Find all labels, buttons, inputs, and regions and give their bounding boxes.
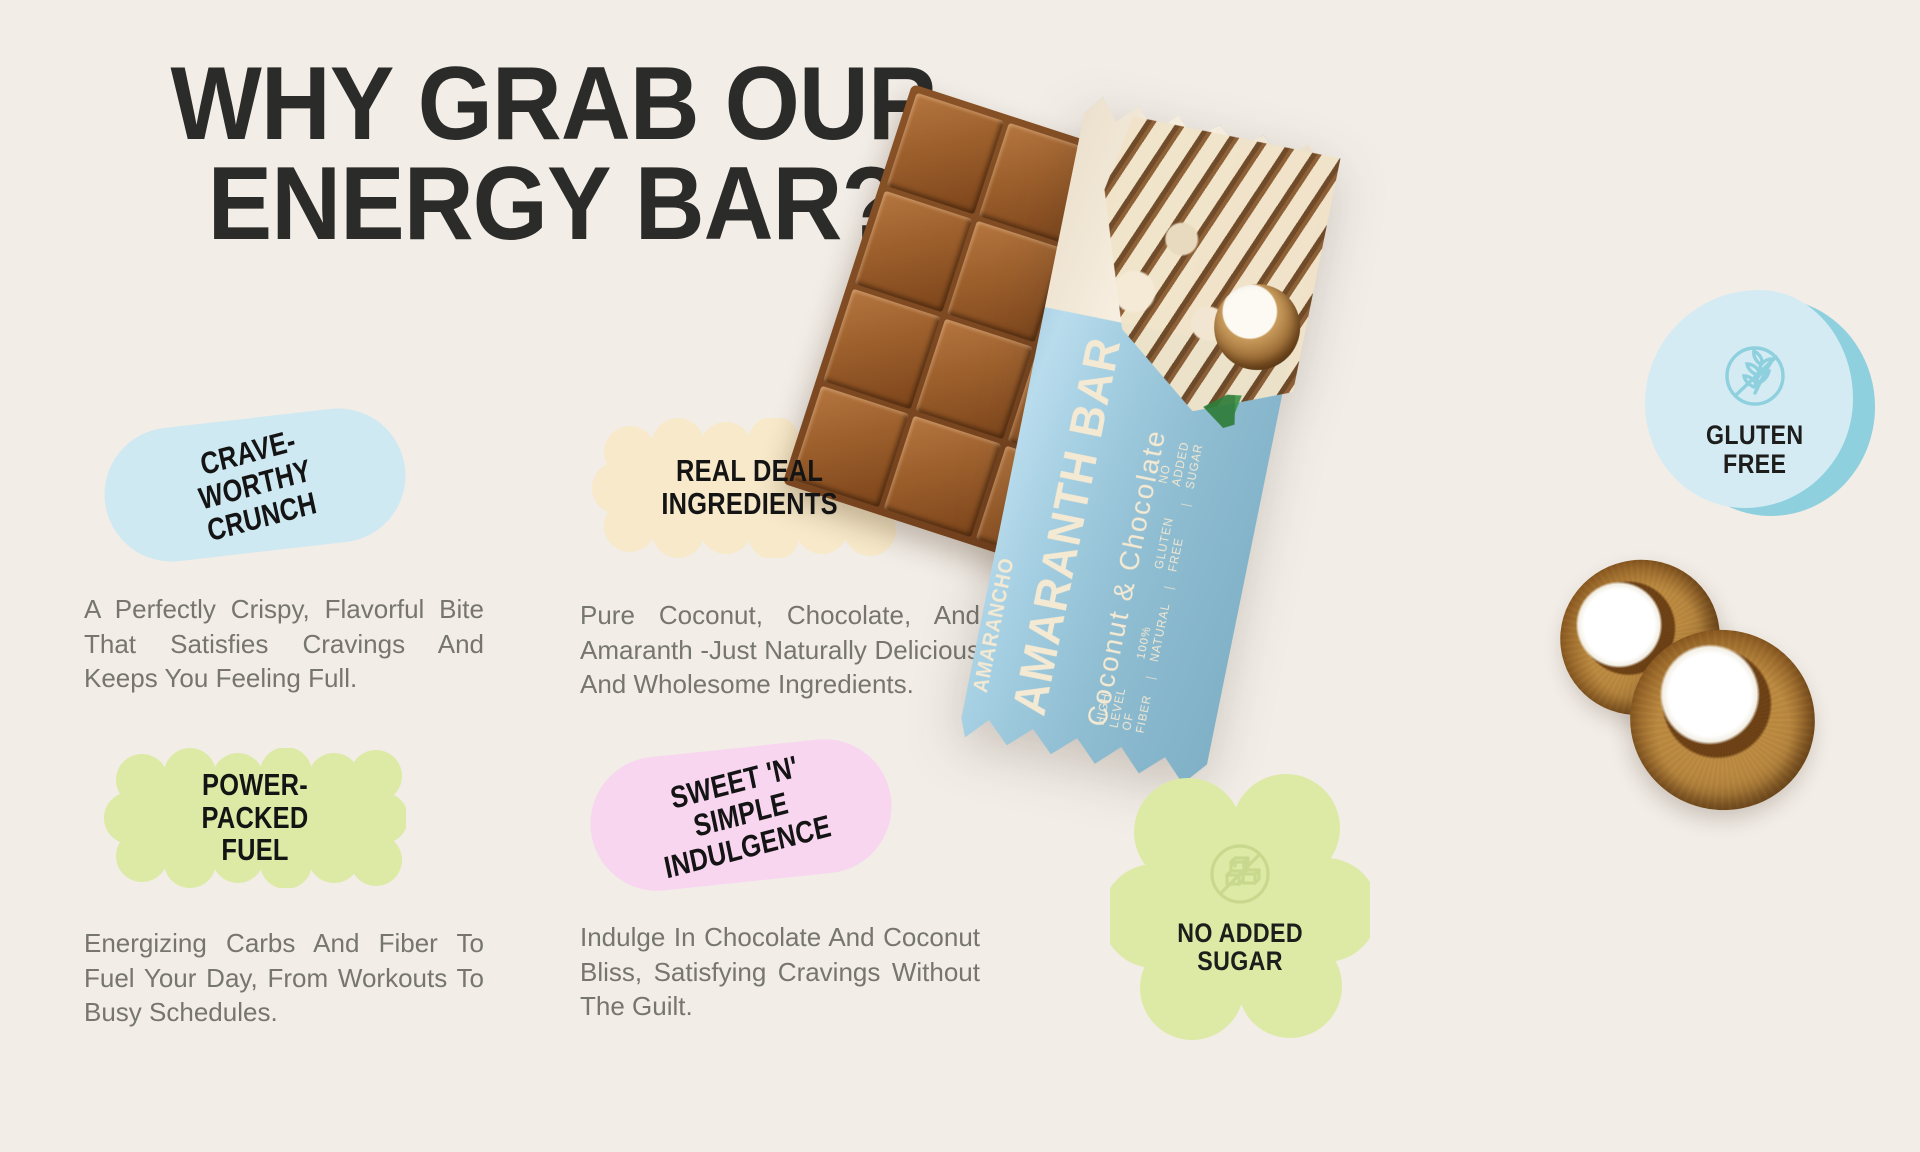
claim-separator: | (1181, 501, 1195, 508)
callout-gluten-free: GLUTEN FREE (1645, 290, 1865, 525)
feature-description: Energizing Carbs And Fiber To Fuel Your … (84, 926, 484, 1030)
package-claim: 100% NATURAL (1136, 599, 1175, 663)
feature-badge-power-packed-fuel: POWER-PACKED FUEL (104, 748, 406, 888)
package-claim: GLUTEN FREE (1154, 516, 1191, 573)
callout-no-added-sugar: NO ADDED SUGAR (1110, 770, 1370, 1040)
callout-label: GLUTEN FREE (1706, 421, 1804, 477)
wheat-crossed-out-icon (1716, 337, 1794, 415)
feature-item-power-packed-fuel: POWER-PACKED FUEL Energizing Carbs And F… (84, 748, 524, 1030)
feature-item-crave-worthy-crunch: CRAVE-WORTHY CRUNCH A Perfectly Crispy, … (84, 418, 524, 696)
feature-description: Pure Coconut, Chocolate, And Amaranth -J… (580, 598, 980, 702)
feature-badge-label: REAL DEAL INGREDIENTS (662, 455, 838, 521)
feature-item-sweet-n-simple-indulgence: SWEET 'N' SIMPLE INDULGENCE Indulge In C… (580, 748, 1020, 1024)
callout-label: NO ADDED SUGAR (1177, 919, 1303, 975)
claim-separator: | (1145, 674, 1159, 681)
feature-badge-label: POWER-PACKED FUEL (159, 769, 351, 868)
feature-badge-sweet-n-simple-indulgence: SWEET 'N' SIMPLE INDULGENCE (584, 733, 898, 898)
feature-description: A Perfectly Crispy, Flavorful Bite That … (84, 592, 484, 696)
feature-description: Indulge In Chocolate And Coconut Bliss, … (580, 920, 980, 1024)
package-claim: NO ADDED SUGAR (1158, 437, 1207, 490)
sugar-cubes-crossed-out-icon (1201, 835, 1279, 913)
claim-separator: | (1164, 584, 1178, 591)
feature-badge-crave-worthy-crunch: CRAVE-WORTHY CRUNCH (97, 401, 412, 568)
